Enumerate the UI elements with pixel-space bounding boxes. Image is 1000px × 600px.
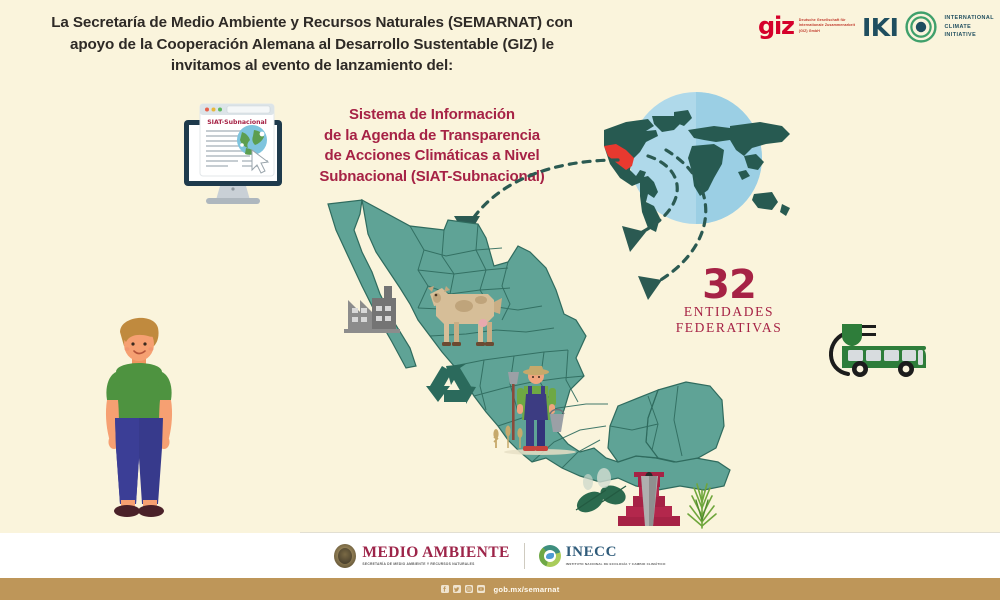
browser-page-heading: SIAT-Subnacional <box>207 119 267 126</box>
semarnat-title: MEDIO AMBIENTE <box>362 545 509 561</box>
iki-tagline-line-1: INTERNATIONAL <box>944 14 993 23</box>
farmer-icon <box>493 366 576 455</box>
shirt <box>114 363 164 422</box>
inecc-title: INECC <box>566 545 666 561</box>
browser-dot-yellow <box>212 108 216 112</box>
youtube-icon[interactable] <box>477 585 485 593</box>
stat-entidades-federativas: 32 ENTIDADES FEDERATIVAS <box>668 266 790 336</box>
header-line-3-emphasis: evento de lanzamiento <box>262 57 423 74</box>
browser-address-bar <box>227 106 270 113</box>
iki-logo: IKI INTERNATIONAL CLIMATE INITIATIVE <box>862 10 994 44</box>
facebook-icon[interactable] <box>441 585 449 593</box>
header-line-3-post: del: <box>422 57 453 74</box>
inecc-logo: INECC INSTITUTO NACIONAL DE ECOLOGÍA Y C… <box>539 545 666 567</box>
footer-logos: MEDIO AMBIENTE SECRETARÍA DE MEDIO AMBIE… <box>0 533 1000 578</box>
browser-dot-green <box>218 108 222 112</box>
eye-left <box>131 342 134 345</box>
header-invitation-text: La Secretaría de Medio Ambiente y Recurs… <box>12 12 612 77</box>
standing-person-illustration <box>96 308 182 520</box>
plug-icon <box>842 324 876 346</box>
iki-tagline-line-2: CLIMATE <box>944 23 993 32</box>
giz-tagline: Deutsche Gesellschaft für Internationale… <box>799 18 861 34</box>
giz-logo: giz Deutsche Gesellschaft für Internatio… <box>758 14 861 38</box>
semarnat-logo: MEDIO AMBIENTE SECRETARÍA DE MEDIO AMBIE… <box>334 544 509 568</box>
leaves-icon <box>573 468 628 517</box>
monitor-illustration: SIAT-Subnacional <box>180 98 286 210</box>
instagram-icon[interactable] <box>465 585 473 593</box>
inecc-subtitle: INSTITUTO NACIONAL DE ECOLOGÍA Y CAMBIO … <box>566 562 666 566</box>
header-line-1: La Secretaría de Medio Ambiente y Recurs… <box>12 12 612 34</box>
giz-wordmark: giz <box>758 14 794 38</box>
stat-number: 32 <box>668 266 790 304</box>
shoe-right <box>138 505 164 517</box>
shrub-icon <box>688 484 716 528</box>
stat-label-line-1: ENTIDADES <box>668 304 790 320</box>
poster-canvas: La Secretaría de Medio Ambiente y Recurs… <box>0 0 1000 600</box>
inecc-mark-icon <box>539 545 561 567</box>
stat-label-line-2: FEDERATIVAS <box>668 320 790 336</box>
shoe-left <box>114 505 140 517</box>
page-title-line-1: Sistema de Información <box>288 105 576 126</box>
map-icon-overlay <box>318 190 738 540</box>
footer-logo-separator <box>524 543 525 569</box>
electric-bus-icon <box>818 316 934 384</box>
mexican-eagle-icon <box>334 544 356 568</box>
pyramid-icon <box>618 472 680 526</box>
monitor-base <box>206 198 260 204</box>
iki-tagline: INTERNATIONAL CLIMATE INITIATIVE <box>944 14 993 40</box>
factory-icon <box>344 286 400 333</box>
semarnat-subtitle: SECRETARÍA DE MEDIO AMBIENTE Y RECURSOS … <box>362 562 509 566</box>
iki-wordmark: IKI <box>862 15 898 40</box>
footer-url[interactable]: gob.mx/semarnat <box>494 585 560 594</box>
header-line-3-pre: invitamos al <box>171 57 262 74</box>
header-line-3: invitamos al evento de lanzamiento del: <box>12 55 612 77</box>
cow-icon <box>428 286 502 346</box>
iki-tagline-line-3: INITIATIVE <box>944 31 993 40</box>
twitter-icon[interactable] <box>453 585 461 593</box>
browser-dot-red <box>205 108 209 112</box>
header-line-2: apoyo de la Cooperación Alemana al Desar… <box>12 34 612 56</box>
iki-circles-icon <box>904 10 938 44</box>
recycle-icon <box>426 364 476 404</box>
footer-social-bar: gob.mx/semarnat <box>0 578 1000 600</box>
eye-right <box>143 342 146 345</box>
